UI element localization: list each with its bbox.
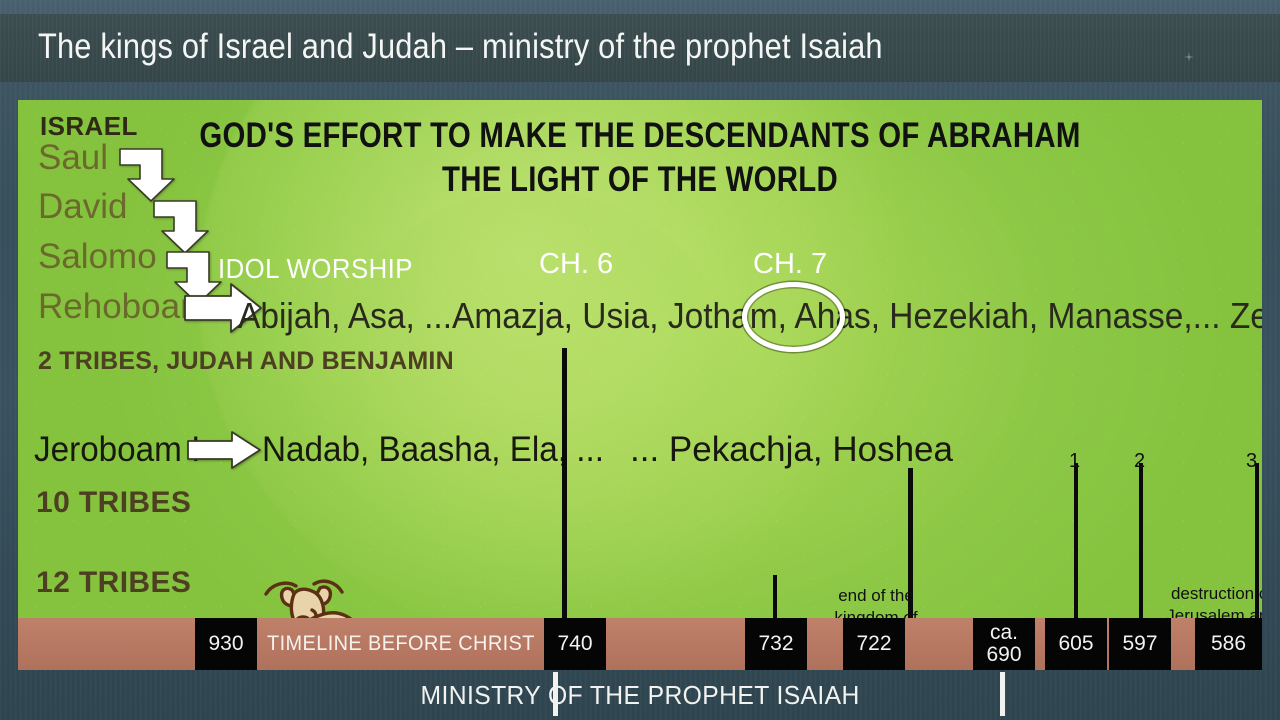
arrow-right-icon — [186, 430, 262, 470]
bent-arrow-down-icon — [152, 197, 214, 255]
chapter-label-6: CH. 6 — [539, 248, 613, 281]
divider-740 — [562, 348, 567, 618]
timeline-date-722: 722 — [843, 618, 905, 670]
marker-3: 3 — [1246, 450, 1257, 473]
bent-arrow-down-icon — [118, 145, 180, 203]
king-saul: Saul — [38, 138, 108, 178]
timeline-date-732: 732 — [745, 618, 807, 670]
jeroboam-label: Jeroboam I — [34, 430, 209, 470]
timeline-bar: 930 TIMELINE BEFORE CHRIST 740 732 722 c… — [18, 618, 1262, 670]
timeline-date-930: 930 — [195, 618, 257, 670]
chapter-label-7: CH. 7 — [753, 248, 827, 281]
marker-2: 2 — [1134, 450, 1145, 473]
slide-root: The kings of Israel and Judah – ministry… — [0, 0, 1280, 720]
northern-kings-line-1: Nadab, Baasha, Ela, ... — [262, 430, 622, 470]
ten-tribes-label: 10 TRIBES — [36, 486, 191, 520]
ministry-end-tick — [1000, 672, 1005, 716]
idol-worship-label: IDOL WORSHIP — [218, 253, 430, 285]
king-david: David — [38, 187, 127, 227]
ministry-label: MINISTRY OF THE PROPHET ISAIAH — [409, 680, 871, 711]
marker-1: 1 — [1069, 450, 1080, 473]
northern-kings-line-2: ... Pekachja, Hoshea — [630, 430, 953, 470]
two-tribes-label: 2 TRIBES, JUDAH AND BENJAMIN — [38, 347, 454, 376]
content-panel: GOD'S EFFORT TO MAKE THE DESCENDANTS OF … — [18, 100, 1262, 618]
ministry-bar: MINISTRY OF THE PROPHET ISAIAH — [18, 670, 1262, 720]
golden-calf-icon — [246, 570, 392, 618]
sparkle-icon — [1184, 52, 1194, 62]
title-band: The kings of Israel and Judah – ministry… — [0, 14, 1280, 82]
headline: GOD'S EFFORT TO MAKE THE DESCENDANTS OF … — [18, 114, 1262, 202]
twelve-tribes-label: 12 TRIBES — [36, 566, 191, 600]
headline-line-2: THE LIGHT OF THE WORLD — [118, 158, 1163, 202]
king-salomo: Salomo — [38, 237, 157, 277]
timeline-date-740: 740 — [544, 618, 606, 670]
timeline-date-597: 597 — [1109, 618, 1171, 670]
headline-line-1: GOD'S EFFORT TO MAKE THE DESCENDANTS OF … — [118, 114, 1163, 158]
ahas-highlight-circle — [742, 282, 845, 352]
end-of-kingdom-caption: end of the kingdom of Israel — [830, 585, 922, 618]
timeline-date-690-line2: 690 — [986, 644, 1021, 666]
timeline-date-690: ca. 690 — [973, 618, 1035, 670]
timeline-date-690-line1: ca. — [990, 622, 1018, 644]
divider-732 — [773, 575, 777, 618]
divider-597 — [1139, 463, 1143, 618]
page-title: The kings of Israel and Judah – ministry… — [38, 27, 883, 67]
timeline-date-586: 586 — [1195, 618, 1262, 670]
timeline-date-605: 605 — [1045, 618, 1107, 670]
destruction-caption: destruction of Jerusalem and the temple — [1166, 583, 1262, 618]
timeline-label: TIMELINE BEFORE CHRIST — [257, 618, 544, 670]
divider-605 — [1074, 463, 1078, 618]
